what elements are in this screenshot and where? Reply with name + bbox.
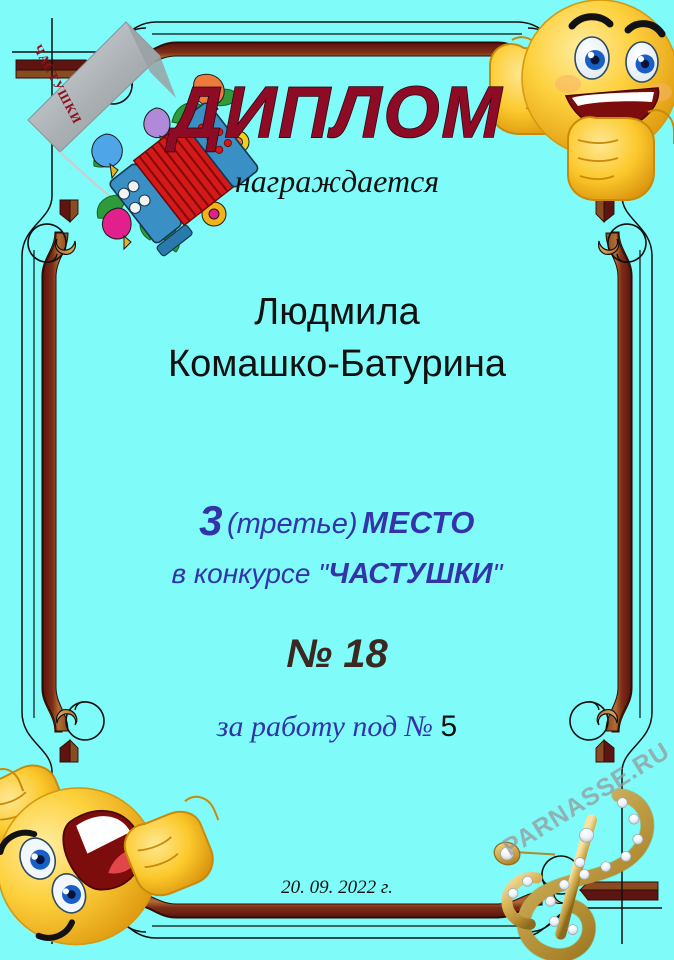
- award-place-label: МЕСТО: [362, 505, 475, 540]
- certificate-title: ДИПЛОМ: [0, 72, 674, 154]
- work-reference-line: за работу под № 5: [0, 710, 674, 744]
- contest-name: ЧАСТУШКИ: [328, 558, 492, 590]
- certificate-subtitle: награждается: [0, 163, 674, 200]
- diploma-certificate: ЧАСТУШКИ: [0, 0, 674, 960]
- quote-close: ": [493, 558, 503, 589]
- quote-open: ": [318, 558, 328, 589]
- work-prefix: за работу под №: [217, 710, 433, 743]
- award-place-number: 3: [199, 497, 222, 544]
- award-place-word: (третье): [227, 508, 358, 540]
- recipient-name: Людмила Комашко-Батурина: [0, 287, 674, 390]
- recipient-last-name: Комашко-Батурина: [0, 339, 674, 391]
- contest-prefix: в конкурсе: [172, 558, 311, 589]
- recipient-first-name: Людмила: [0, 287, 674, 339]
- issue-date: 20. 09. 2022 г.: [0, 877, 674, 899]
- award-place-line: 3 (третье) МЕСТО: [0, 497, 674, 545]
- entry-number: № 18: [0, 632, 674, 677]
- work-number: 5: [441, 710, 458, 743]
- contest-line: в конкурсе "ЧАСТУШКИ": [0, 558, 674, 591]
